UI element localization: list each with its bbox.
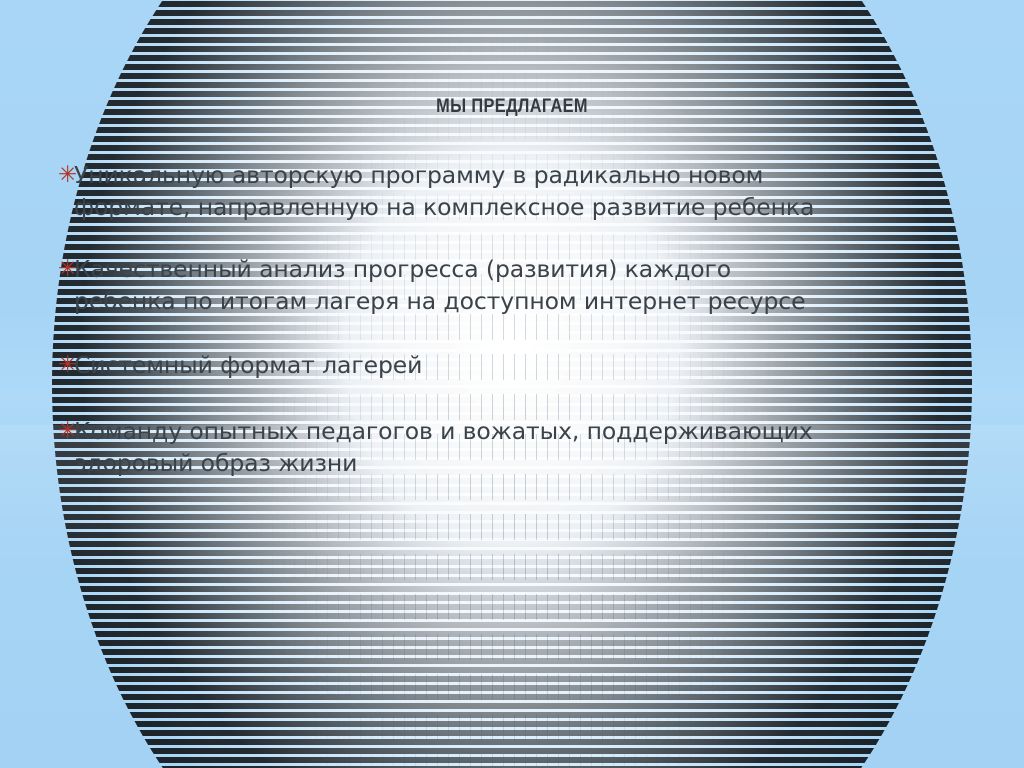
asterisk-bullet-icon: ✳ [58, 350, 74, 377]
asterisk-bullet-icon: ✳ [58, 416, 74, 443]
bullet-item-4: ✳ Команду опытных педагогов и вожатых, п… [58, 416, 958, 480]
presentation-slide: МЫ ПРЕДЛАГАЕМ ✳ Уникальную авторскую про… [0, 0, 1024, 768]
bullet-text-1: Уникальную авторскую программу в радикал… [74, 160, 958, 224]
bullet-text-2: Качественный анализ прогресса (развития)… [74, 254, 958, 318]
bullet-item-1: ✳ Уникальную авторскую программу в радик… [58, 160, 958, 224]
asterisk-bullet-icon: ✳ [58, 254, 74, 281]
asterisk-bullet-icon: ✳ [58, 160, 74, 187]
bullet-item-3: ✳ Системный формат лагерей [58, 350, 958, 382]
slide-content: МЫ ПРЕДЛАГАЕМ ✳ Уникальную авторскую про… [0, 0, 1024, 768]
slide-title: МЫ ПРЕДЛАГАЕМ [72, 96, 953, 118]
bullet-text-3: Системный формат лагерей [74, 350, 958, 382]
bullet-item-2: ✳ Качественный анализ прогресса (развити… [58, 254, 958, 318]
bullet-list: ✳ Уникальную авторскую программу в радик… [58, 160, 958, 508]
bullet-text-4: Команду опытных педагогов и вожатых, под… [74, 416, 958, 480]
